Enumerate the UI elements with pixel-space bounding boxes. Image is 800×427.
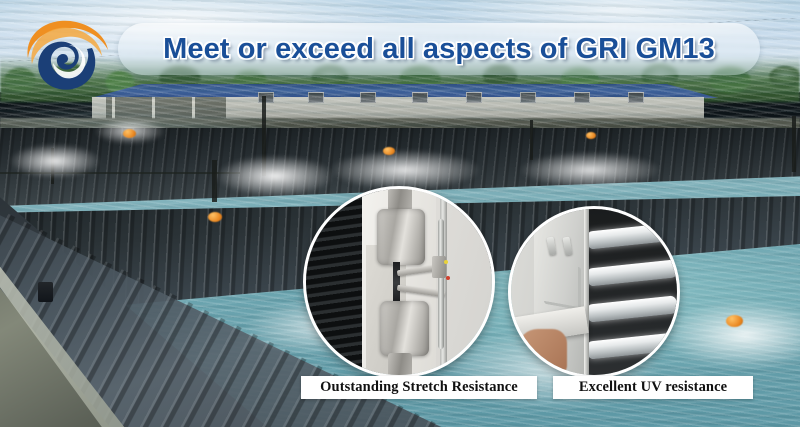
pond-equipment-box xyxy=(38,282,53,302)
aerator-float xyxy=(726,315,743,327)
aerator-float xyxy=(383,147,395,155)
aerator-splash xyxy=(330,150,480,190)
utility-pole xyxy=(792,116,796,172)
tensile-grip-upper xyxy=(377,209,425,265)
headline-text: Meet or exceed all aspects of GRI GM13 xyxy=(118,23,760,75)
tensile-crosshead-bottom xyxy=(388,353,412,378)
tensile-grip-lower xyxy=(380,301,428,357)
uv-chamber-handle xyxy=(544,261,581,311)
aerator-float xyxy=(123,129,136,138)
tensile-crosshead-top xyxy=(388,186,412,211)
test-specimen xyxy=(393,262,400,305)
feature-caption-uv: Excellent UV resistance xyxy=(553,376,753,399)
aerator-splash xyxy=(10,144,100,178)
banner-image: Meet or exceed all aspects of GRI GM13 xyxy=(0,0,800,427)
operator-hand xyxy=(518,329,568,375)
aerator-splash xyxy=(520,152,660,188)
feature-circle-stretch xyxy=(303,186,495,378)
company-logo[interactable] xyxy=(14,12,118,96)
extensometer-rod xyxy=(438,219,444,349)
status-led-yellow xyxy=(444,260,448,264)
aerator-float xyxy=(208,212,222,222)
feature-circle-uv xyxy=(508,206,680,378)
pond-post xyxy=(530,120,533,160)
feature-caption-stretch: Outstanding Stretch Resistance xyxy=(301,376,537,399)
uv-chamber-door-edge xyxy=(584,209,589,375)
aerator-float xyxy=(586,132,596,139)
